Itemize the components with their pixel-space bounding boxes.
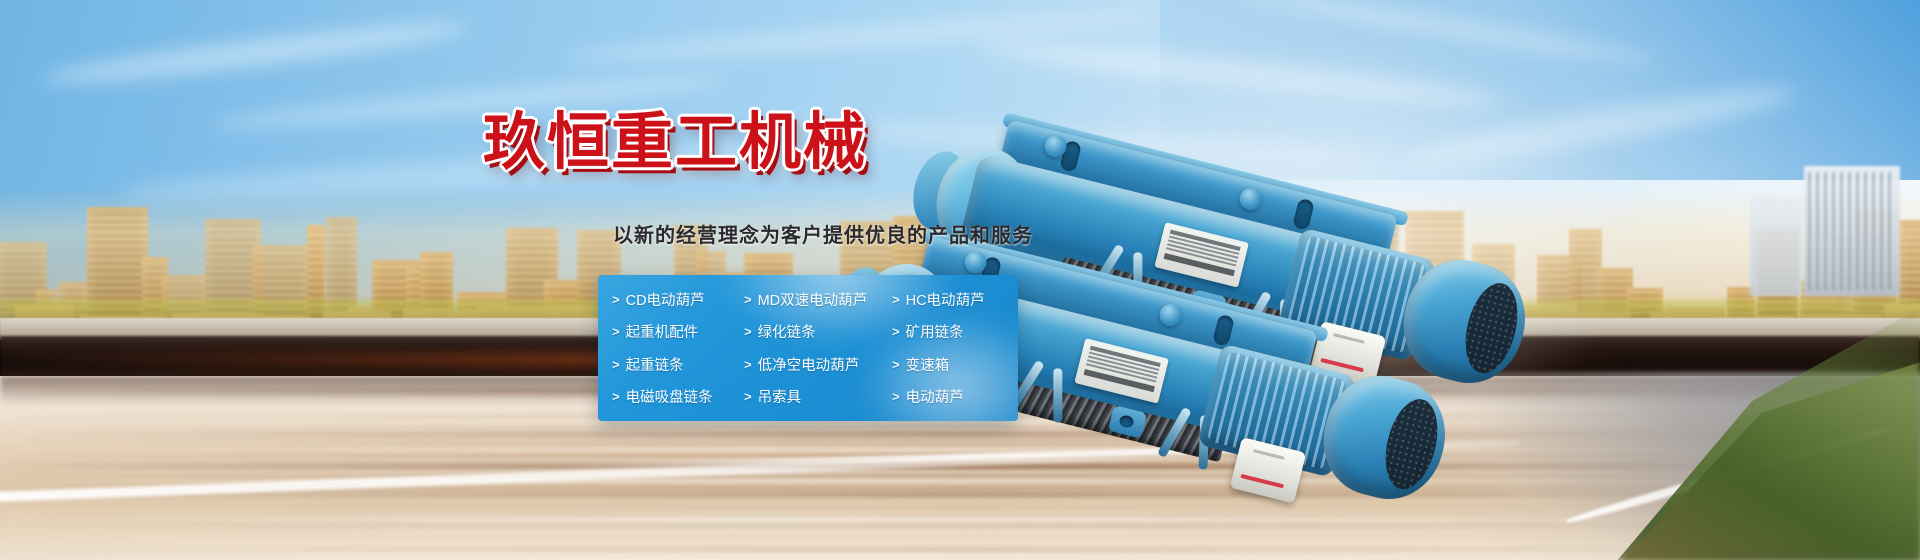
- product-link-label: 起重机配件: [626, 321, 699, 342]
- product-link-label: 变速箱: [906, 354, 950, 375]
- product-link-label: CD电动葫芦: [626, 289, 705, 310]
- product-link-label: 电动葫芦: [906, 386, 964, 407]
- chevron-right-icon: >: [892, 357, 900, 372]
- product-link[interactable]: >HC电动葫芦: [892, 283, 1018, 316]
- product-link[interactable]: >绿化链条: [744, 316, 892, 349]
- product-link-label: 矿用链条: [906, 321, 964, 342]
- chevron-right-icon: >: [612, 324, 620, 339]
- product-link-label: MD双速电动葫芦: [758, 289, 868, 310]
- chevron-right-icon: >: [612, 292, 620, 307]
- page-subtitle: 以新的经营理念为客户提供优良的产品和服务: [613, 219, 1033, 248]
- chevron-right-icon: >: [744, 389, 752, 404]
- product-link[interactable]: >起重链条: [612, 348, 744, 381]
- chevron-right-icon: >: [892, 292, 900, 307]
- product-link[interactable]: >低净空电动葫芦: [744, 348, 892, 381]
- beam-slot: [1212, 314, 1235, 347]
- product-link[interactable]: >矿用链条: [892, 316, 1018, 349]
- background-tower: [1750, 196, 1802, 296]
- product-link[interactable]: >电磁吸盘链条: [612, 381, 744, 414]
- chevron-right-icon: >: [744, 292, 752, 307]
- chevron-right-icon: >: [892, 324, 900, 339]
- product-link-label: 绿化链条: [758, 321, 816, 342]
- product-links-panel: >CD电动葫芦>MD双速电动葫芦>HC电动葫芦>起重机配件>绿化链条>矿用链条>…: [598, 275, 1018, 421]
- product-links-grid: >CD电动葫芦>MD双速电动葫芦>HC电动葫芦>起重机配件>绿化链条>矿用链条>…: [598, 275, 1018, 421]
- product-link[interactable]: >吊索具: [744, 381, 892, 414]
- product-link-label: 吊索具: [758, 386, 802, 407]
- page-title: 玖恒重工机械: [483, 112, 867, 174]
- chevron-right-icon: >: [892, 389, 900, 404]
- background-tower: [1804, 166, 1900, 296]
- product-link[interactable]: >MD双速电动葫芦: [744, 283, 892, 316]
- product-link-label: HC电动葫芦: [906, 289, 985, 310]
- product-link[interactable]: >CD电动葫芦: [612, 283, 744, 316]
- promo-banner: 玖恒重工机械 以新的经营理念为客户提供优良的产品和服务 >CD电动葫芦>MD双速…: [0, 0, 1920, 560]
- product-link[interactable]: >电动葫芦: [892, 381, 1018, 414]
- product-link-label: 电磁吸盘链条: [626, 386, 713, 407]
- chevron-right-icon: >: [612, 389, 620, 404]
- product-link-label: 低净空电动葫芦: [758, 354, 860, 375]
- chevron-right-icon: >: [744, 324, 752, 339]
- product-link-label: 起重链条: [626, 354, 684, 375]
- chevron-right-icon: >: [612, 357, 620, 372]
- product-link[interactable]: >起重机配件: [612, 316, 744, 349]
- product-link[interactable]: >变速箱: [892, 348, 1018, 381]
- rope-guide: [1053, 368, 1062, 422]
- chevron-right-icon: >: [744, 357, 752, 372]
- beam-slot: [1292, 198, 1315, 231]
